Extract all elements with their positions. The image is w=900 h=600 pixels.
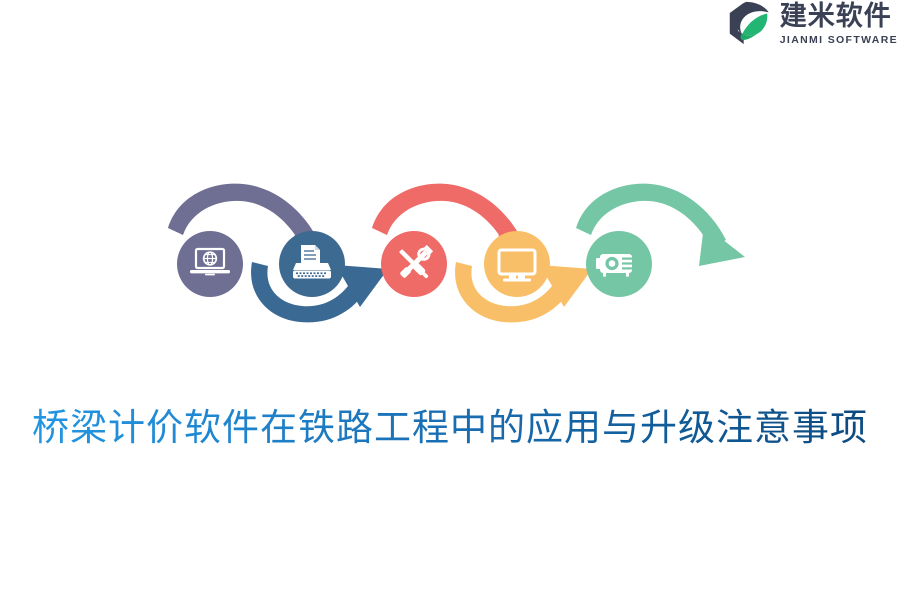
step-circle-typewriter-document bbox=[279, 231, 345, 297]
step-circle-monitor bbox=[484, 231, 550, 297]
brand-name-en: JIANMI SOFTWARE bbox=[780, 35, 898, 46]
page-root: 建米软件 JIANMI SOFTWARE bbox=[0, 0, 900, 600]
page-title-container: 桥梁计价软件在铁路工程中的应用与升级注意事项 bbox=[0, 378, 900, 478]
brand-logo[interactable]: 建米软件 JIANMI SOFTWARE bbox=[724, 0, 900, 48]
step-circle-laptop-globe bbox=[177, 231, 243, 297]
laptop-globe-icon bbox=[190, 249, 230, 275]
step-circle-projector bbox=[586, 231, 652, 297]
jianmi-hexagon-leaf-logo-icon bbox=[724, 0, 772, 48]
step-circle-screwdriver-wrench bbox=[381, 231, 447, 297]
brand-wordmark: 建米软件 JIANMI SOFTWARE bbox=[780, 3, 898, 46]
page-title: 桥梁计价软件在铁路工程中的应用与升级注意事项 bbox=[32, 403, 868, 453]
process-flow-illustration bbox=[0, 165, 900, 360]
brand-name-cn: 建米软件 bbox=[780, 3, 892, 30]
